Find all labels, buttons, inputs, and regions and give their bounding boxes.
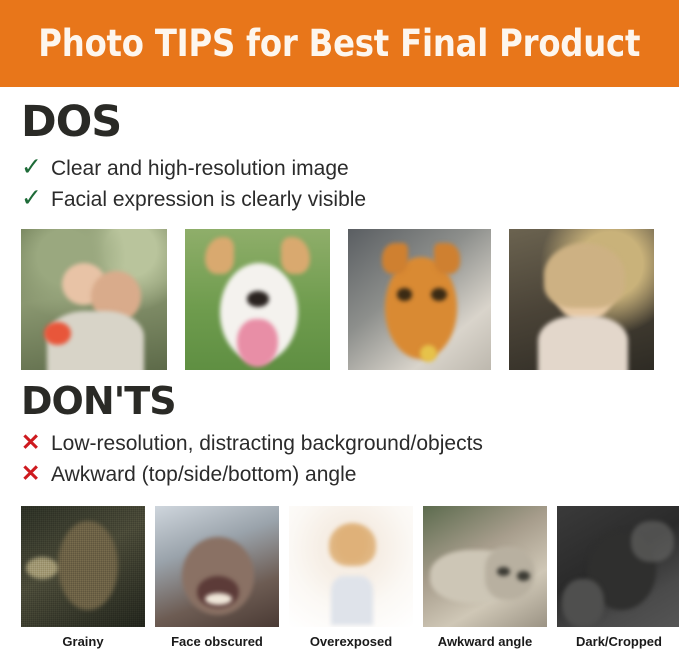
check-icon: ✓ [21, 183, 51, 214]
dark-cropped-cat-photo [557, 506, 679, 627]
woman-portrait-photo [509, 229, 654, 370]
donts-photo-row: Grainy Face obscured Overexposed [21, 506, 679, 649]
photo-caption: Dark/Cropped [576, 634, 662, 649]
donts-bullet-item: ✕ Awkward (top/side/bottom) angle [21, 458, 483, 489]
donts-bullet-list: ✕ Low-resolution, distracting background… [21, 427, 483, 489]
overexposed-girl-photo [289, 506, 413, 627]
dos-heading: DOS [21, 101, 121, 144]
photo-caption: Awkward angle [438, 634, 532, 649]
dos-bullet-item: ✓ Clear and high-resolution image [21, 152, 366, 183]
dos-photo-cell [348, 229, 491, 370]
donts-photo-cell: Dark/Cropped [557, 506, 679, 649]
dos-photo-cell [185, 229, 330, 370]
donts-heading: DON'TS [21, 382, 176, 420]
donts-bullet-label: Low-resolution, distracting background/o… [51, 428, 483, 459]
photo-caption: Grainy [62, 634, 103, 649]
awkward-angle-cat-photo [423, 506, 547, 627]
page-title: Photo TIPS for Best Final Product [39, 22, 641, 65]
grainy-child-photo [21, 506, 145, 627]
face-obscured-dog-photo [155, 506, 279, 627]
header-banner: Photo TIPS for Best Final Product [0, 0, 679, 87]
cross-icon: ✕ [21, 427, 51, 458]
photo-caption: Face obscured [171, 634, 263, 649]
dos-bullet-label: Clear and high-resolution image [51, 153, 349, 184]
photo-caption: Overexposed [310, 634, 392, 649]
donts-photo-cell: Face obscured [155, 506, 279, 649]
couple-smiling-photo [21, 229, 167, 370]
cross-icon: ✕ [21, 458, 51, 489]
donts-bullet-item: ✕ Low-resolution, distracting background… [21, 427, 483, 458]
donts-bullet-label: Awkward (top/side/bottom) angle [51, 459, 356, 490]
dos-photo-cell [509, 229, 654, 370]
dos-photo-cell [21, 229, 167, 370]
white-dog-photo [185, 229, 330, 370]
donts-photo-cell: Overexposed [289, 506, 413, 649]
check-icon: ✓ [21, 152, 51, 183]
donts-photo-cell: Awkward angle [423, 506, 547, 649]
photo-tips-infographic: Photo TIPS for Best Final Product DOS ✓ … [0, 0, 679, 663]
dos-bullet-list: ✓ Clear and high-resolution image ✓ Faci… [21, 152, 366, 214]
dos-bullet-item: ✓ Facial expression is clearly visible [21, 183, 366, 214]
donts-photo-cell: Grainy [21, 506, 145, 649]
dos-photo-row [21, 229, 654, 370]
orange-cat-photo [348, 229, 491, 370]
dos-bullet-label: Facial expression is clearly visible [51, 184, 366, 215]
